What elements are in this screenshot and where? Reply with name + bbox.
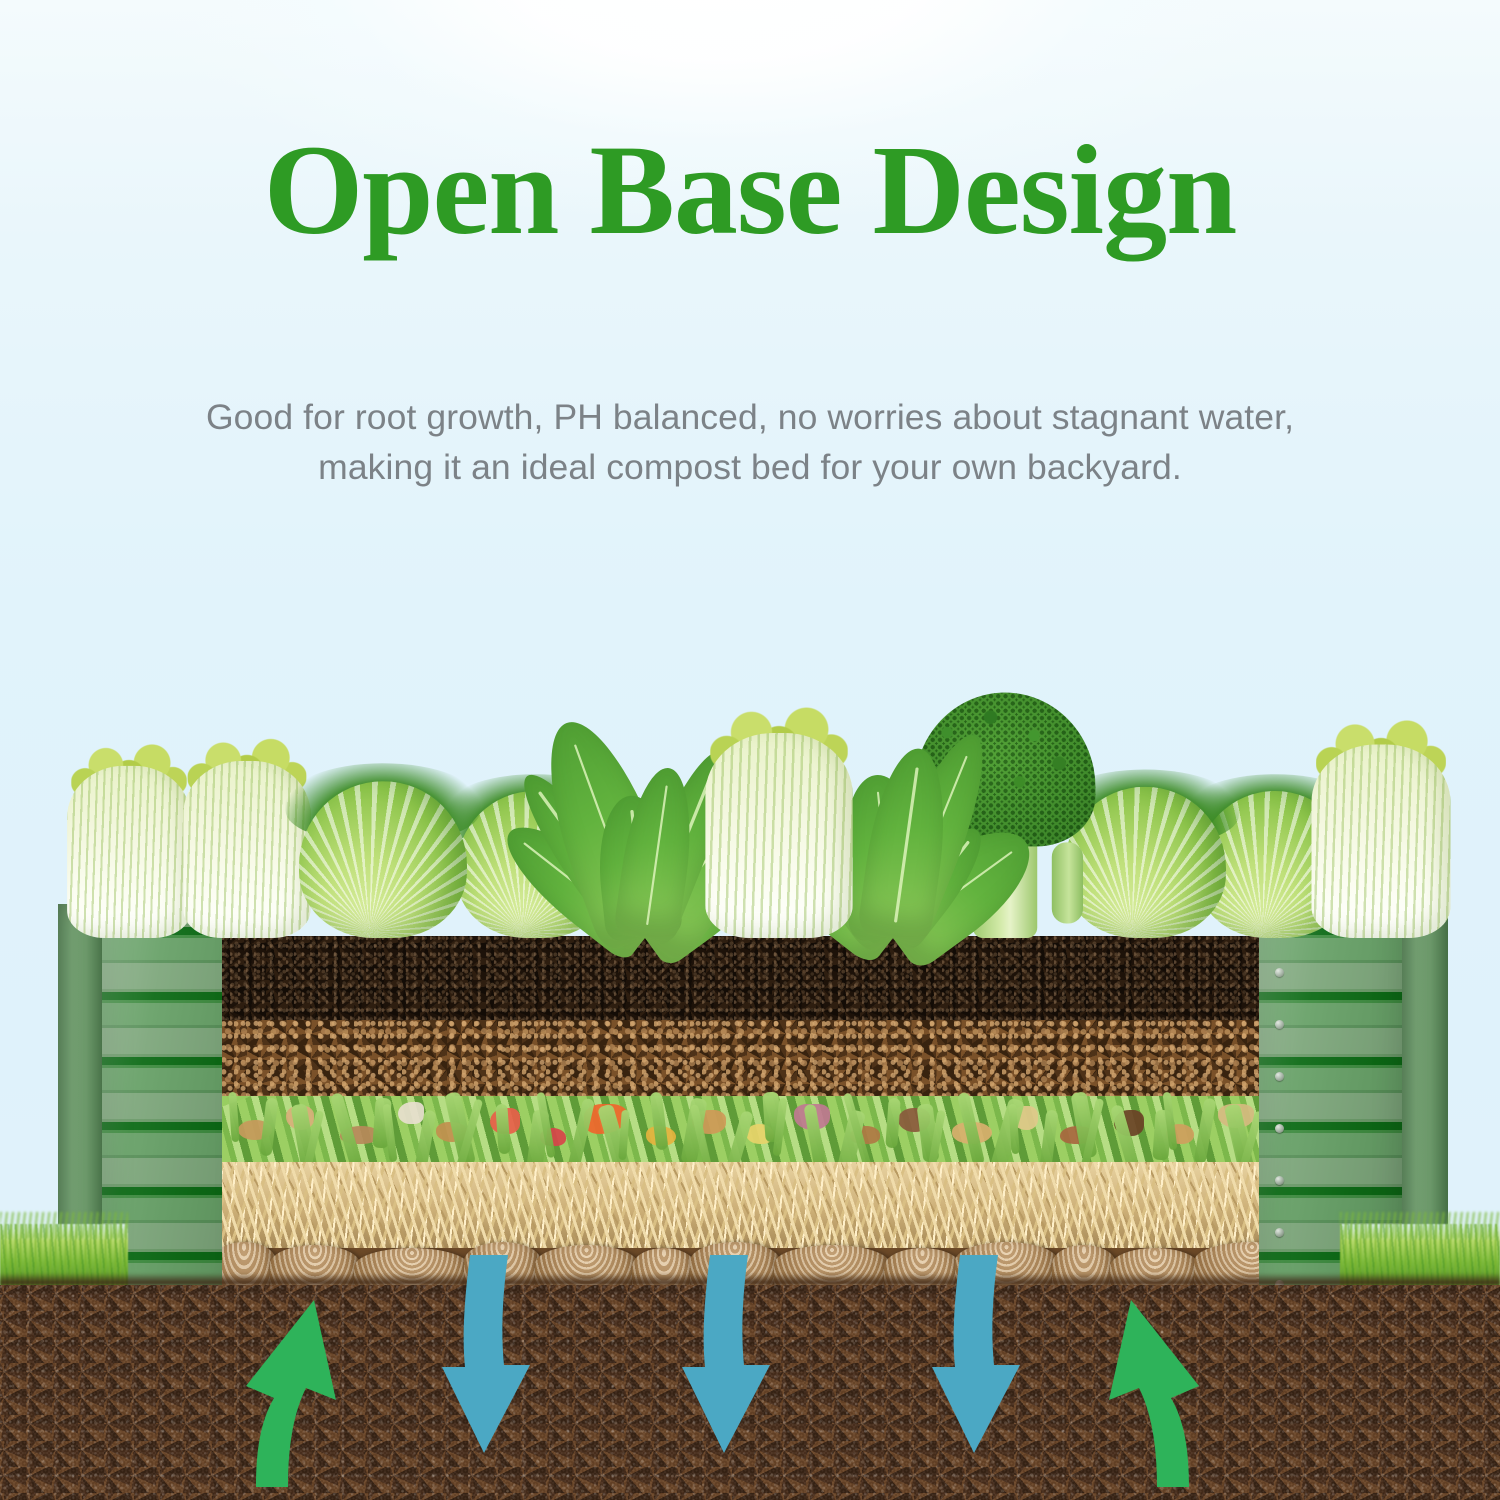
airflow-up-arrow-right bbox=[1085, 1282, 1205, 1487]
layer-bark-mulch bbox=[222, 1020, 1284, 1096]
cabbage-head bbox=[299, 781, 467, 938]
napa-body bbox=[1311, 744, 1450, 938]
plant-napa-cabbage bbox=[1311, 714, 1450, 938]
drainage-down-arrow-2 bbox=[680, 1255, 776, 1455]
plant-napa-cabbage bbox=[183, 733, 310, 938]
layer-topsoil bbox=[222, 936, 1284, 1020]
compost-stalk bbox=[1193, 1097, 1216, 1164]
subtitle-line-2: making it an ideal compost bed for your … bbox=[318, 447, 1182, 487]
layer-straw bbox=[222, 1162, 1284, 1248]
page-subtitle: Good for root growth, PH balanced, no wo… bbox=[70, 392, 1430, 493]
compost-stalk bbox=[228, 1092, 239, 1142]
layer-kitchen-scraps bbox=[222, 1096, 1284, 1162]
vegetable-row bbox=[60, 608, 1440, 938]
plant-napa-cabbage bbox=[67, 739, 191, 939]
drainage-down-arrow-3 bbox=[930, 1255, 1026, 1455]
airflow-up-arrow-left bbox=[240, 1282, 360, 1487]
compost-stalk bbox=[885, 1098, 900, 1149]
broccoli-leg bbox=[1052, 842, 1083, 923]
compost-scrap bbox=[398, 1102, 424, 1124]
compost-stalk bbox=[1040, 1109, 1059, 1168]
subtitle-line-1: Good for root growth, PH balanced, no wo… bbox=[206, 397, 1294, 437]
napa-body bbox=[705, 733, 853, 938]
plant-napa-cabbage bbox=[705, 701, 853, 939]
page-title: Open Base Design bbox=[0, 125, 1500, 256]
compost-stalk bbox=[260, 1097, 279, 1156]
plant-cabbage-head bbox=[299, 781, 467, 938]
napa-body bbox=[67, 766, 191, 938]
raised-garden-bed bbox=[58, 898, 1448, 1308]
compost-cross-section bbox=[222, 936, 1284, 1308]
drainage-down-arrow-1 bbox=[440, 1255, 536, 1455]
